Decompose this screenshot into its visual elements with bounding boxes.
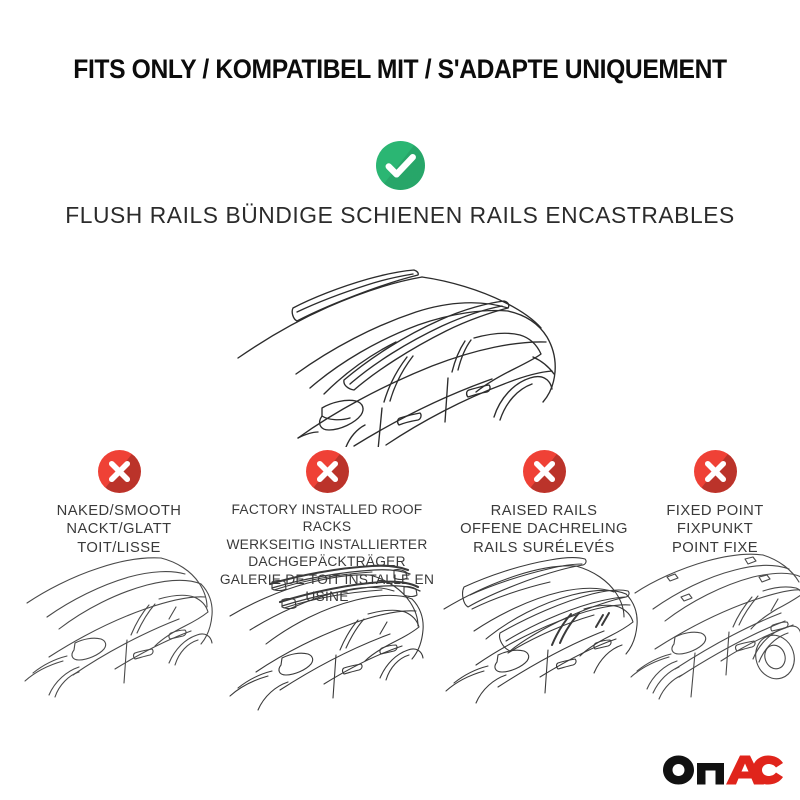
option-factory-installed-roof-racks: FACTORY INSTALLED ROOF RACKS WERKSEITIG … bbox=[208, 450, 446, 606]
compatible-section: FLUSH RAILS BÜNDIGE SCHIENEN RAILS ENCAS… bbox=[0, 141, 800, 229]
cross-circle-icon bbox=[98, 450, 141, 493]
logo-letter-m bbox=[697, 763, 724, 785]
suv-raised-rails-illustration bbox=[440, 547, 648, 707]
omac-logo bbox=[662, 753, 784, 787]
fitment-infographic: FITS ONLY / KOMPATIBEL MIT / S'ADAPTE UN… bbox=[0, 0, 800, 800]
suv-flush-rails-illustration bbox=[236, 262, 576, 447]
compatible-label: FLUSH RAILS BÜNDIGE SCHIENEN RAILS ENCAS… bbox=[12, 202, 788, 229]
suv-factory-crossbars-illustration bbox=[222, 558, 432, 718]
logo-letter-o bbox=[663, 756, 694, 785]
check-circle-icon bbox=[376, 141, 425, 190]
cross-circle-icon bbox=[694, 450, 737, 493]
logo-letter-c bbox=[753, 756, 784, 785]
option-naked-smooth: NAKED/SMOOTH NACKT/GLATT TOIT/LISSE bbox=[23, 450, 215, 557]
cross-circle-icon bbox=[523, 450, 566, 493]
option-fixed-point: FIXED POINT FIXPUNKT POINT FIXE bbox=[632, 450, 798, 557]
option-raised-rails: RAISED RAILS OFFENE DACHRELING RAILS SUR… bbox=[443, 450, 645, 557]
suv-fixed-point-illustration bbox=[629, 547, 800, 707]
incompatible-section: NAKED/SMOOTH NACKT/GLATT TOIT/LISSE bbox=[0, 450, 800, 710]
cross-circle-icon bbox=[306, 450, 349, 493]
page-title: FITS ONLY / KOMPATIBEL MIT / S'ADAPTE UN… bbox=[28, 54, 772, 85]
suv-naked-roof-illustration bbox=[19, 547, 219, 707]
